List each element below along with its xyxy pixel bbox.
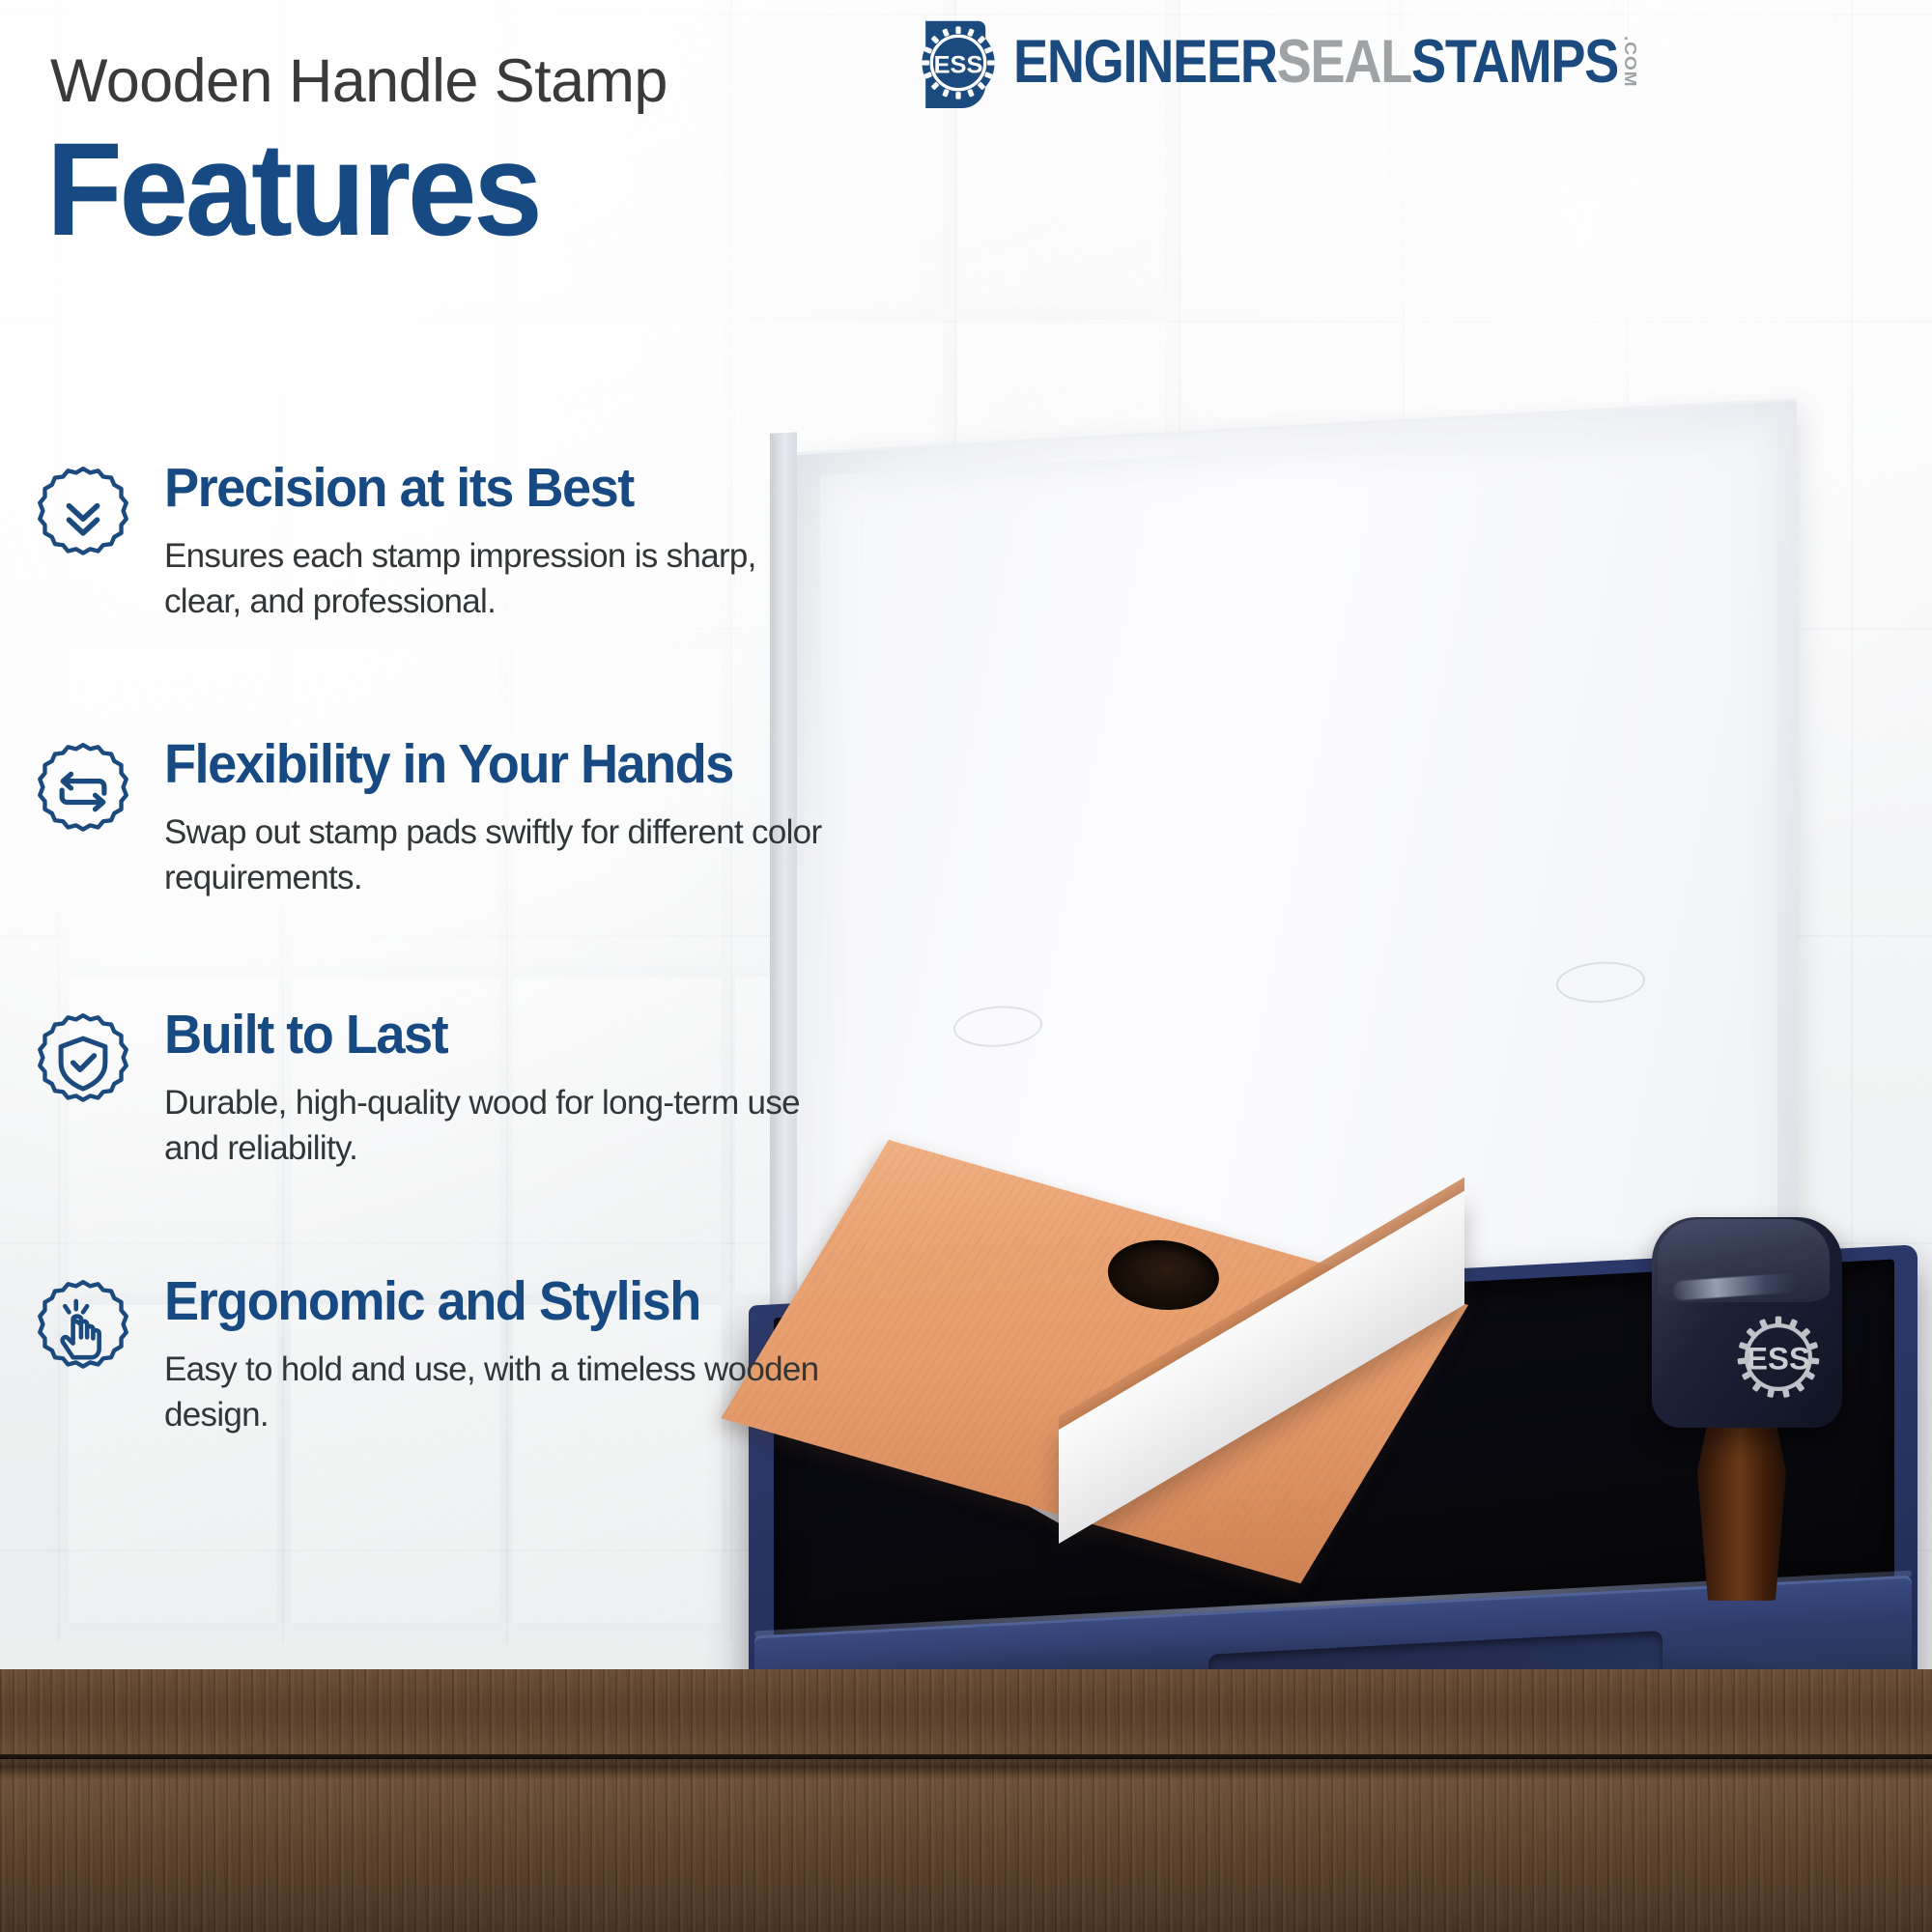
page-kicker: Wooden Handle Stamp [50,46,668,116]
wooden-stamp-block [889,1140,1507,1575]
tap-hand-badge-icon [33,1277,133,1378]
brand-wordmark: ENGINEER SEAL STAMPS .COM [1013,35,1636,91]
wordmark-stamps: STAMPS [1411,35,1618,91]
wordmark-engineer: ENGINEER [1013,35,1277,91]
page-title: Features [46,124,540,256]
feature-item-durability: Built to Last Durable, high-quality wood… [33,1007,902,1171]
brand-logo[interactable]: ESS ENGINEER SEAL STAMPS .COM [913,17,1738,108]
stamp-handle-knob: ESS [1652,1217,1842,1428]
shield-check-badge-icon [33,1010,133,1111]
ess-gear-badge-icon: ESS [913,17,1004,108]
feature-title: Built to Last [164,1007,866,1063]
knob-ess-gear-icon: ESS [1727,1306,1830,1408]
feature-body: Ensures each stamp impression is sharp, … [164,534,840,624]
feature-body: Swap out stamp pads swiftly for differen… [164,810,840,900]
logo-badge-text: ESS [934,51,983,78]
feature-item-flexibility: Flexibility in Your Hands Swap out stamp… [33,736,902,900]
feature-item-precision: Precision at its Best Ensures each stamp… [33,460,902,624]
feature-title: Flexibility in Your Hands [164,736,866,792]
feature-item-ergonomics: Ergonomic and Stylish Easy to hold and u… [33,1273,902,1437]
wordmark-seal: SEAL [1277,35,1411,91]
chevrons-down-badge-icon [33,464,133,564]
knob-ess-text: ESS [1747,1341,1810,1377]
infographic-canvas: ESS Wooden Handle Stamp Features [0,0,1932,1932]
feature-title: Ergonomic and Stylish [164,1273,866,1329]
wordmark-dotcom: .COM [1622,36,1638,88]
wooden-floor [0,1669,1932,1932]
feature-body: Easy to hold and use, with a timeless wo… [164,1348,840,1437]
feature-body: Durable, high-quality wood for long-term… [164,1081,840,1171]
swap-arrows-badge-icon [33,740,133,840]
feature-title: Precision at its Best [164,460,866,516]
